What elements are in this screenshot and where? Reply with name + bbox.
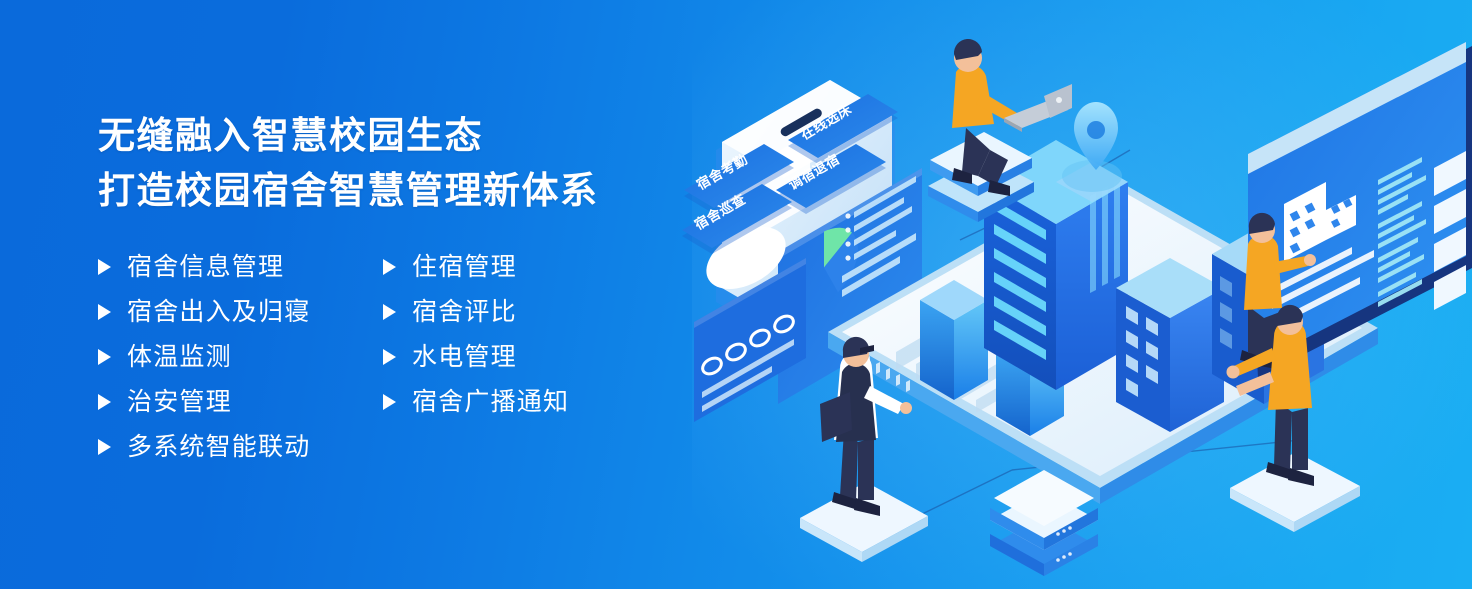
feature-label: 多系统智能联动: [127, 432, 310, 462]
triangle-right-icon: [98, 349, 111, 365]
headline-line-2: 打造校园宿舍智慧管理新体系: [98, 163, 658, 218]
banner-root: 无缝融入智慧校园生态 打造校园宿舍智慧管理新体系 宿舍信息管理 宿舍出入及归寝 …: [0, 0, 1472, 589]
feature-list: 宿舍信息管理 宿舍出入及归寝 体温监测 治安管理 多系统智能联动: [98, 244, 628, 469]
feature-item[interactable]: 治安管理: [98, 379, 383, 424]
feature-item[interactable]: 宿舍出入及归寝: [98, 289, 383, 334]
feature-label: 宿舍广播通知: [412, 387, 569, 417]
triangle-right-icon: [383, 304, 396, 320]
feature-label: 宿舍评比: [412, 297, 517, 327]
feature-column-right: 住宿管理 宿舍评比 水电管理 宿舍广播通知: [383, 244, 628, 469]
feature-label: 治安管理: [127, 387, 232, 417]
triangle-right-icon: [98, 304, 111, 320]
feature-label: 宿舍信息管理: [127, 252, 284, 282]
feature-item[interactable]: 体温监测: [98, 334, 383, 379]
illustration: 在线选床 宿舍考勤 调宿退宿 宿舍巡查: [660, 0, 1472, 589]
feature-label: 水电管理: [412, 342, 517, 372]
feature-label: 住宿管理: [412, 252, 517, 282]
building-mid: [1116, 258, 1224, 432]
feature-column-left: 宿舍信息管理 宿舍出入及归寝 体温监测 治安管理 多系统智能联动: [98, 244, 383, 469]
triangle-right-icon: [98, 394, 111, 410]
headline-line-1: 无缝融入智慧校园生态: [98, 108, 658, 163]
bar: [920, 280, 988, 400]
feature-item[interactable]: 住宿管理: [383, 244, 628, 289]
triangle-right-icon: [383, 349, 396, 365]
feature-label: 体温监测: [127, 342, 232, 372]
feature-label: 宿舍出入及归寝: [127, 297, 310, 327]
triangle-right-icon: [98, 439, 111, 455]
copy-block: 无缝融入智慧校园生态 打造校园宿舍智慧管理新体系 宿舍信息管理 宿舍出入及归寝 …: [98, 108, 658, 469]
feature-item[interactable]: 水电管理: [383, 334, 628, 379]
feature-item[interactable]: 宿舍信息管理: [98, 244, 383, 289]
feature-item[interactable]: 宿舍广播通知: [383, 379, 628, 424]
triangle-right-icon: [383, 394, 396, 410]
triangle-right-icon: [98, 259, 111, 275]
triangle-right-icon: [383, 259, 396, 275]
feature-item[interactable]: 宿舍评比: [383, 289, 628, 334]
feature-item[interactable]: 多系统智能联动: [98, 424, 383, 469]
